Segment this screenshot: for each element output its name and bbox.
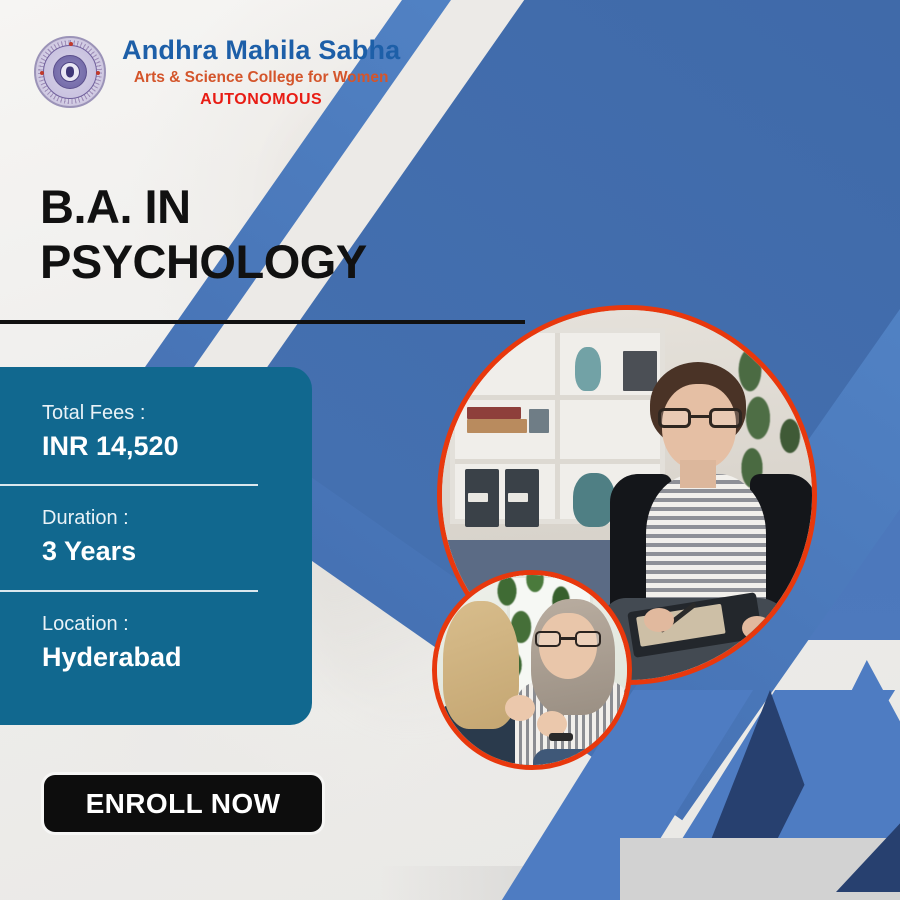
counselor-figure	[509, 599, 629, 770]
eyeglasses-icon	[658, 408, 742, 428]
course-promo-poster: Andhra Mahila Sabha Arts & Science Colle…	[0, 0, 900, 900]
brand-subtitle: Arts & Science College for Women	[134, 69, 389, 87]
seal-core-emblem	[60, 62, 80, 82]
detail-label: Duration :	[42, 506, 312, 530]
detail-separator	[0, 590, 258, 592]
detail-separator	[0, 484, 258, 486]
eyeglasses-icon	[535, 631, 601, 647]
title-divider	[0, 320, 525, 324]
enroll-now-button[interactable]: ENROLL NOW	[44, 775, 322, 832]
detail-value: 3 Years	[42, 535, 312, 567]
brand-title: Andhra Mahila Sabha	[122, 36, 400, 66]
counseling-conversation-photo	[432, 570, 632, 770]
detail-item-duration: Duration : 3 Years	[42, 506, 312, 567]
course-details-panel: Total Fees : INR 14,520 Duration : 3 Yea…	[0, 367, 312, 725]
brand-header: Andhra Mahila Sabha Arts & Science Colle…	[34, 36, 400, 109]
detail-item-location: Location : Hyderabad	[42, 612, 312, 673]
course-title: B.A. IN PSYCHOLOGY	[40, 180, 367, 290]
course-title-line-2: PSYCHOLOGY	[40, 235, 367, 290]
wristwatch	[549, 733, 573, 741]
detail-item-fees: Total Fees : INR 14,520	[42, 401, 312, 462]
detail-label: Location :	[42, 612, 312, 636]
brand-text-block: Andhra Mahila Sabha Arts & Science Colle…	[122, 36, 400, 109]
college-seal-icon	[34, 36, 106, 108]
brand-autonomous-badge: AUTONOMOUS	[200, 91, 322, 109]
detail-value: Hyderabad	[42, 641, 312, 673]
detail-label: Total Fees :	[42, 401, 312, 425]
detail-value: INR 14,520	[42, 430, 312, 462]
course-title-line-1: B.A. IN	[40, 180, 191, 233]
counseling-scene	[437, 575, 627, 765]
